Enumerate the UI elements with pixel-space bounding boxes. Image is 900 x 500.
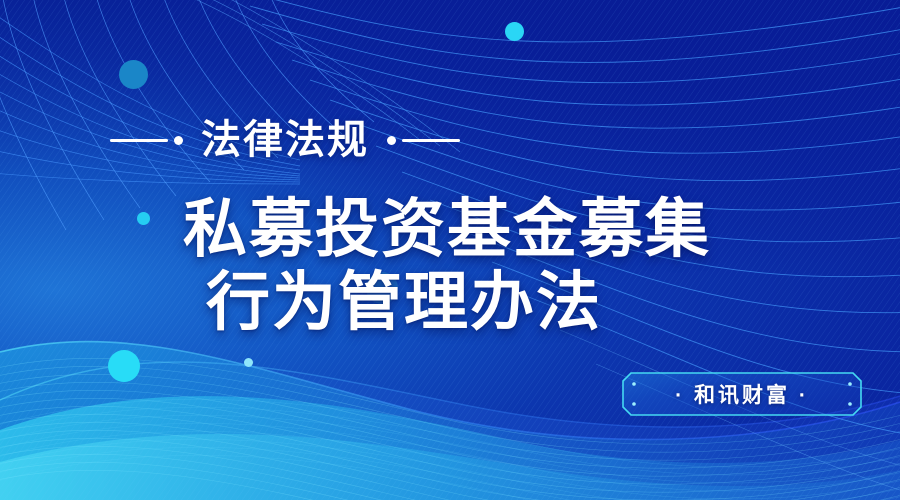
rule-line-right-bar [402, 139, 460, 142]
category-label: 法律法规 [201, 120, 369, 160]
promo-banner: 法律法规 私募投资基金募集 行为管理办法 [0, 0, 900, 500]
banner-content: 法律法规 私募投资基金募集 行为管理办法 [0, 0, 900, 500]
brand-badge[interactable]: · 和讯财富 · [622, 372, 862, 416]
eyebrow-row: 法律法规 [0, 112, 570, 168]
rule-dot-right [387, 136, 396, 145]
page-title: 私募投资基金募集 行为管理办法 [0, 196, 900, 335]
title-line-1: 私募投资基金募集 [0, 196, 900, 263]
rule-line-left [110, 136, 183, 145]
rule-dot-left [174, 136, 183, 145]
title-line-2: 行为管理办法 [0, 269, 900, 336]
brand-badge-label: · 和讯财富 · [622, 372, 862, 416]
rule-line-left-bar [110, 139, 168, 142]
rule-line-right [387, 136, 460, 145]
